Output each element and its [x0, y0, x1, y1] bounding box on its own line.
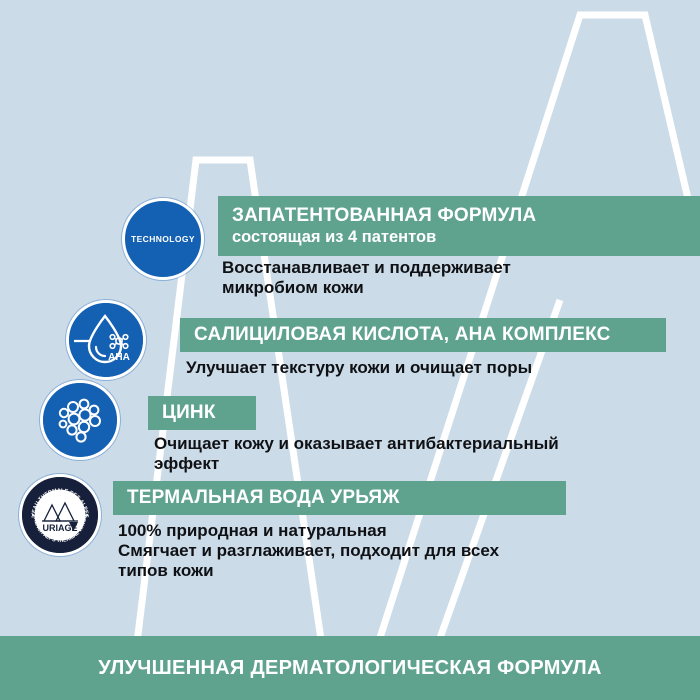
poster-canvas: TECHNOLOGY ЗАПАТЕНТОВАННАЯ ФОРМУЛА состо… [0, 0, 700, 700]
feature-1-subtitle: состоящая из 4 патентов [232, 227, 700, 247]
svg-text:AHA: AHA [108, 352, 130, 363]
feature-2-title: САЛИЦИЛОВАЯ КИСЛОТА, АНА КОМПЛЕКС [194, 323, 666, 346]
zinc-molecules-icon [40, 380, 120, 460]
feature-1-description: Восстанавливает и поддерживает микробиом… [222, 258, 692, 298]
technology-badge-label: TECHNOLOGY [131, 234, 195, 244]
feature-3-title: ЦИНК [162, 401, 256, 424]
feature-2-green-bar: САЛИЦИЛОВАЯ КИСЛОТА, АНА КОМПЛЕКС [180, 318, 666, 352]
uriage-seal-center-text: URIAGE [42, 523, 77, 533]
footer-banner: УЛУЧШЕННАЯ ДЕРМАТОЛОГИЧЕСКАЯ ФОРМУЛА [0, 636, 700, 700]
feature-3-green-bar: ЦИНК [148, 396, 256, 430]
feature-1-title: ЗАПАТЕНТОВАННАЯ ФОРМУЛА [232, 204, 700, 227]
feature-3-description: Очищает кожу и оказывает антибактериальн… [154, 434, 682, 474]
technology-badge-icon: TECHNOLOGY [122, 198, 204, 280]
feature-2-description-line-1: Улучшает текстуру кожи и очищает поры [186, 358, 686, 378]
feature-3-description-line-2: эффект [154, 454, 682, 474]
feature-2-description: Улучшает текстуру кожи и очищает поры [186, 358, 686, 378]
feature-4-description-line-2: Смягчает и разглаживает, подходит для вс… [118, 541, 678, 561]
feature-4-description-line-1: 100% природная и натуральная [118, 521, 678, 541]
feature-3-description-line-1: Очищает кожу и оказывает антибактериальн… [154, 434, 682, 454]
feature-4-description: 100% природная и натуральная Смягчает и … [118, 521, 678, 581]
footer-text: УЛУЧШЕННАЯ ДЕРМАТОЛОГИЧЕСКАЯ ФОРМУЛА [98, 657, 602, 680]
feature-1-green-bar: ЗАПАТЕНТОВАННАЯ ФОРМУЛА состоящая из 4 п… [218, 196, 700, 256]
feature-4-description-line-3: типов кожи [118, 561, 678, 581]
feature-1-description-line-1: Восстанавливает и поддерживает [222, 258, 692, 278]
feature-4-green-bar: ТЕРМАЛЬНАЯ ВОДА УРЬЯЖ [113, 481, 566, 515]
water-droplet-aha-icon: AHA [66, 300, 146, 380]
uriage-seal-icon: URIAGE L'EAU THERMALE DES ALPES FRENCH A… [19, 474, 101, 556]
feature-1-description-line-2: микробиом кожи [222, 278, 692, 298]
feature-4-title: ТЕРМАЛЬНАЯ ВОДА УРЬЯЖ [127, 486, 566, 509]
